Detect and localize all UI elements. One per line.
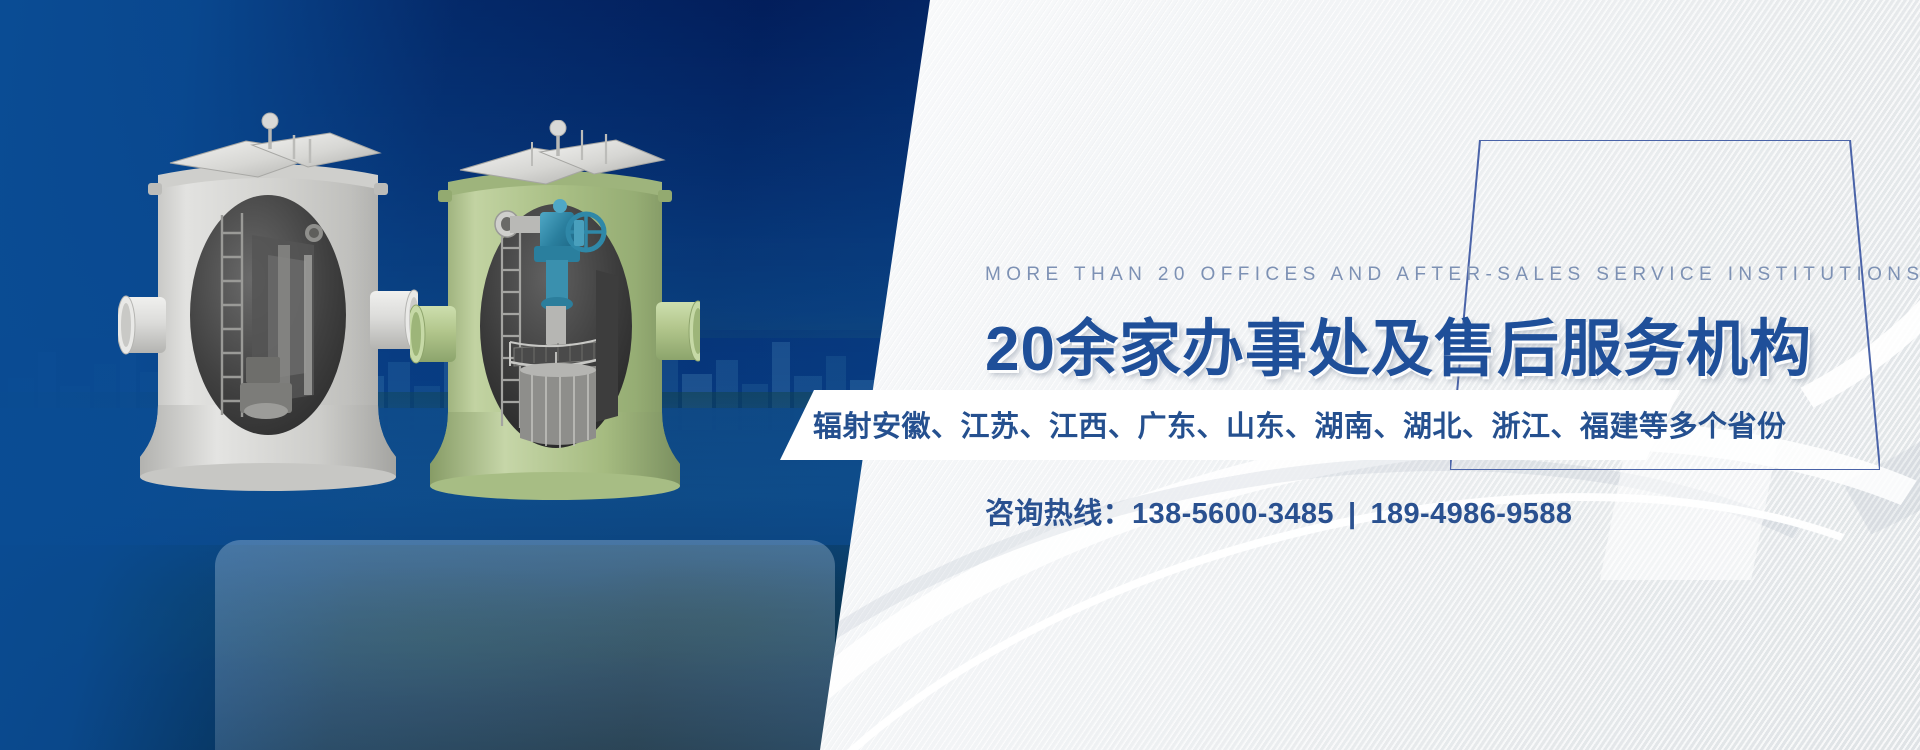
hotline-number-2[interactable]: 189-4986-9588 [1370, 498, 1572, 530]
eyebrow-english-text: MORE THAN 20 OFFICES AND AFTER-SALES SER… [985, 264, 1920, 286]
promo-banner: MORE THAN 20 OFFICES AND AFTER-SALES SER… [0, 0, 1920, 750]
province-list-text: 辐射安徽、江苏、江西、广东、山东、湖南、湖北、浙江、福建等多个省份 [813, 403, 1787, 445]
product-gray-pump-station [118, 105, 418, 505]
product-green-pump-station [410, 120, 700, 510]
page-title: 20余家办事处及售后服务机构 [985, 298, 1812, 388]
hotline-row: 咨询热线：138-5600-3485|189-4986-9588 [985, 490, 1572, 532]
hotline-number-1[interactable]: 138-5600-3485 [1132, 498, 1334, 530]
hotline-separator: | [1334, 498, 1371, 530]
hotline-label: 咨询热线： [985, 498, 1132, 530]
glass-card-decor [215, 540, 835, 750]
